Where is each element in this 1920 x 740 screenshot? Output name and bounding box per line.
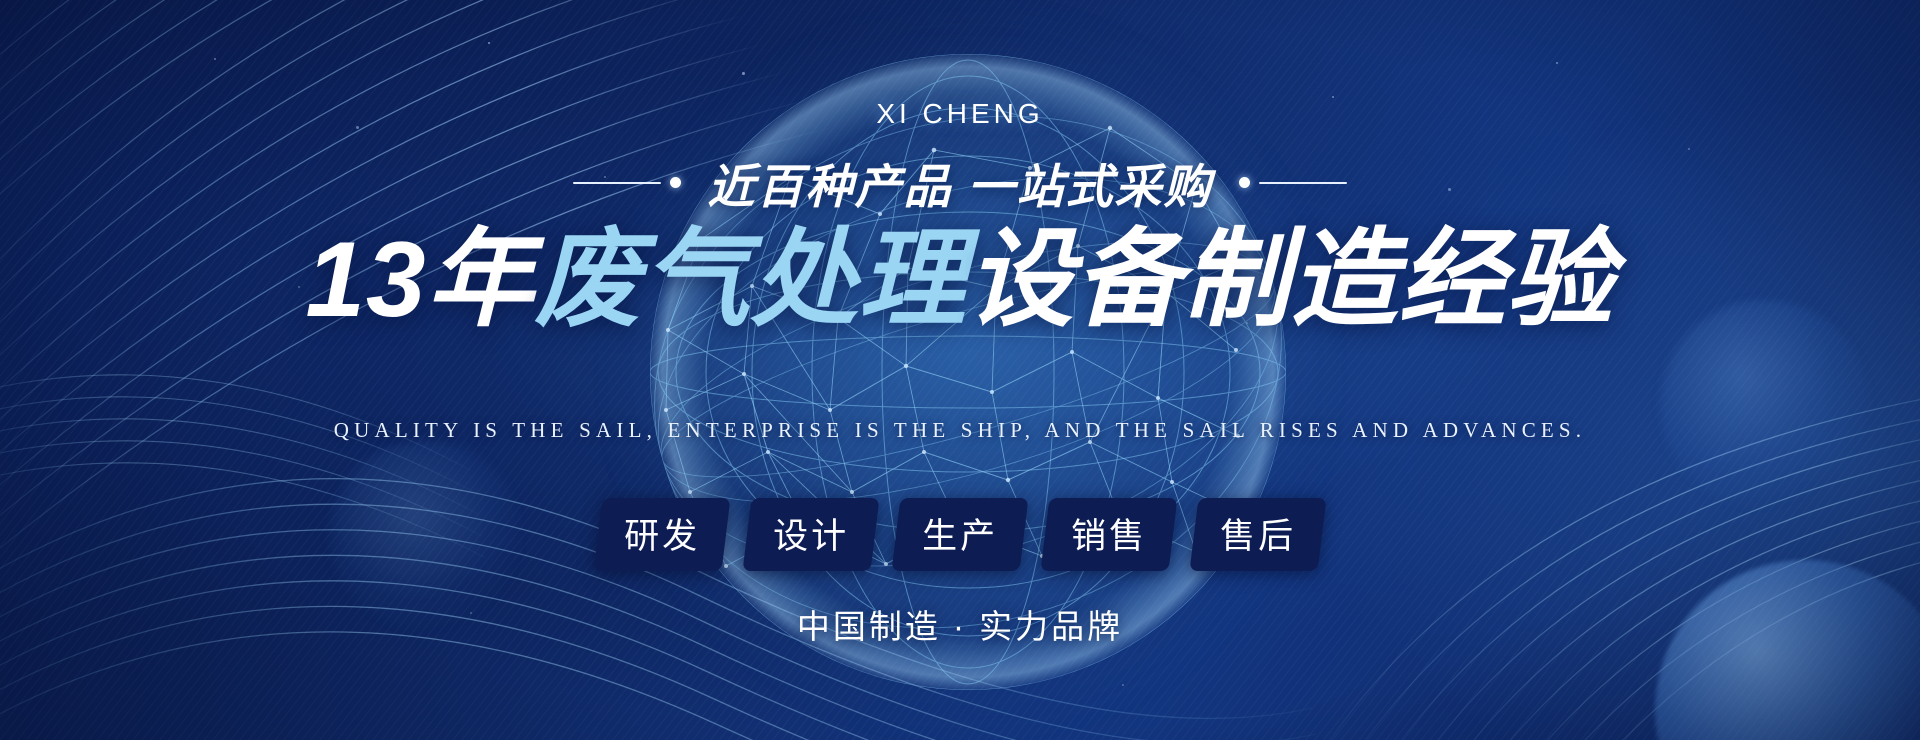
service-tag-sales[interactable]: 销售 — [1041, 498, 1178, 571]
headline-tail: 设备制造经验 — [967, 219, 1615, 339]
headline: 13年废气处理设备制造经验 — [0, 216, 1920, 342]
brand-latin-name: XI CHENG — [0, 98, 1920, 130]
service-tag-list: 研发 设计 生产 销售 售后 — [0, 498, 1920, 571]
banner-content: XI CHENG 近百种产品 一站式采购 13年废气处理设备制造经验 QUALI… — [0, 0, 1920, 740]
headline-highlight: 废气处理 — [535, 219, 967, 339]
service-tag-label: 设计 — [773, 508, 849, 559]
decorative-rule-left — [573, 177, 681, 188]
rule-dot-right — [1239, 177, 1250, 188]
hero-banner: XI CHENG 近百种产品 一站式采购 13年废气处理设备制造经验 QUALI… — [0, 0, 1920, 740]
service-tag-after-sales[interactable]: 售后 — [1190, 498, 1327, 571]
rule-bar-right — [1259, 182, 1347, 184]
service-tag-label: 销售 — [1071, 508, 1147, 559]
service-tag-label: 生产 — [922, 508, 998, 559]
rule-dot-left — [670, 177, 681, 188]
rule-bar-left — [573, 182, 661, 184]
subtitle-row: 近百种产品 一站式采购 — [0, 148, 1920, 217]
service-tag-rd[interactable]: 研发 — [593, 498, 730, 571]
english-tagline: QUALITY IS THE SAIL, ENTERPRISE IS THE S… — [0, 418, 1920, 443]
footnote-slogan: 中国制造 · 实力品牌 — [0, 600, 1920, 648]
service-tag-production[interactable]: 生产 — [892, 498, 1029, 571]
subtitle-text: 近百种产品 一站式采购 — [707, 148, 1212, 217]
headline-years: 13年 — [305, 219, 534, 339]
service-tag-label: 研发 — [624, 508, 700, 559]
service-tag-design[interactable]: 设计 — [742, 498, 879, 571]
service-tag-label: 售后 — [1220, 508, 1296, 559]
decorative-rule-right — [1239, 177, 1347, 188]
